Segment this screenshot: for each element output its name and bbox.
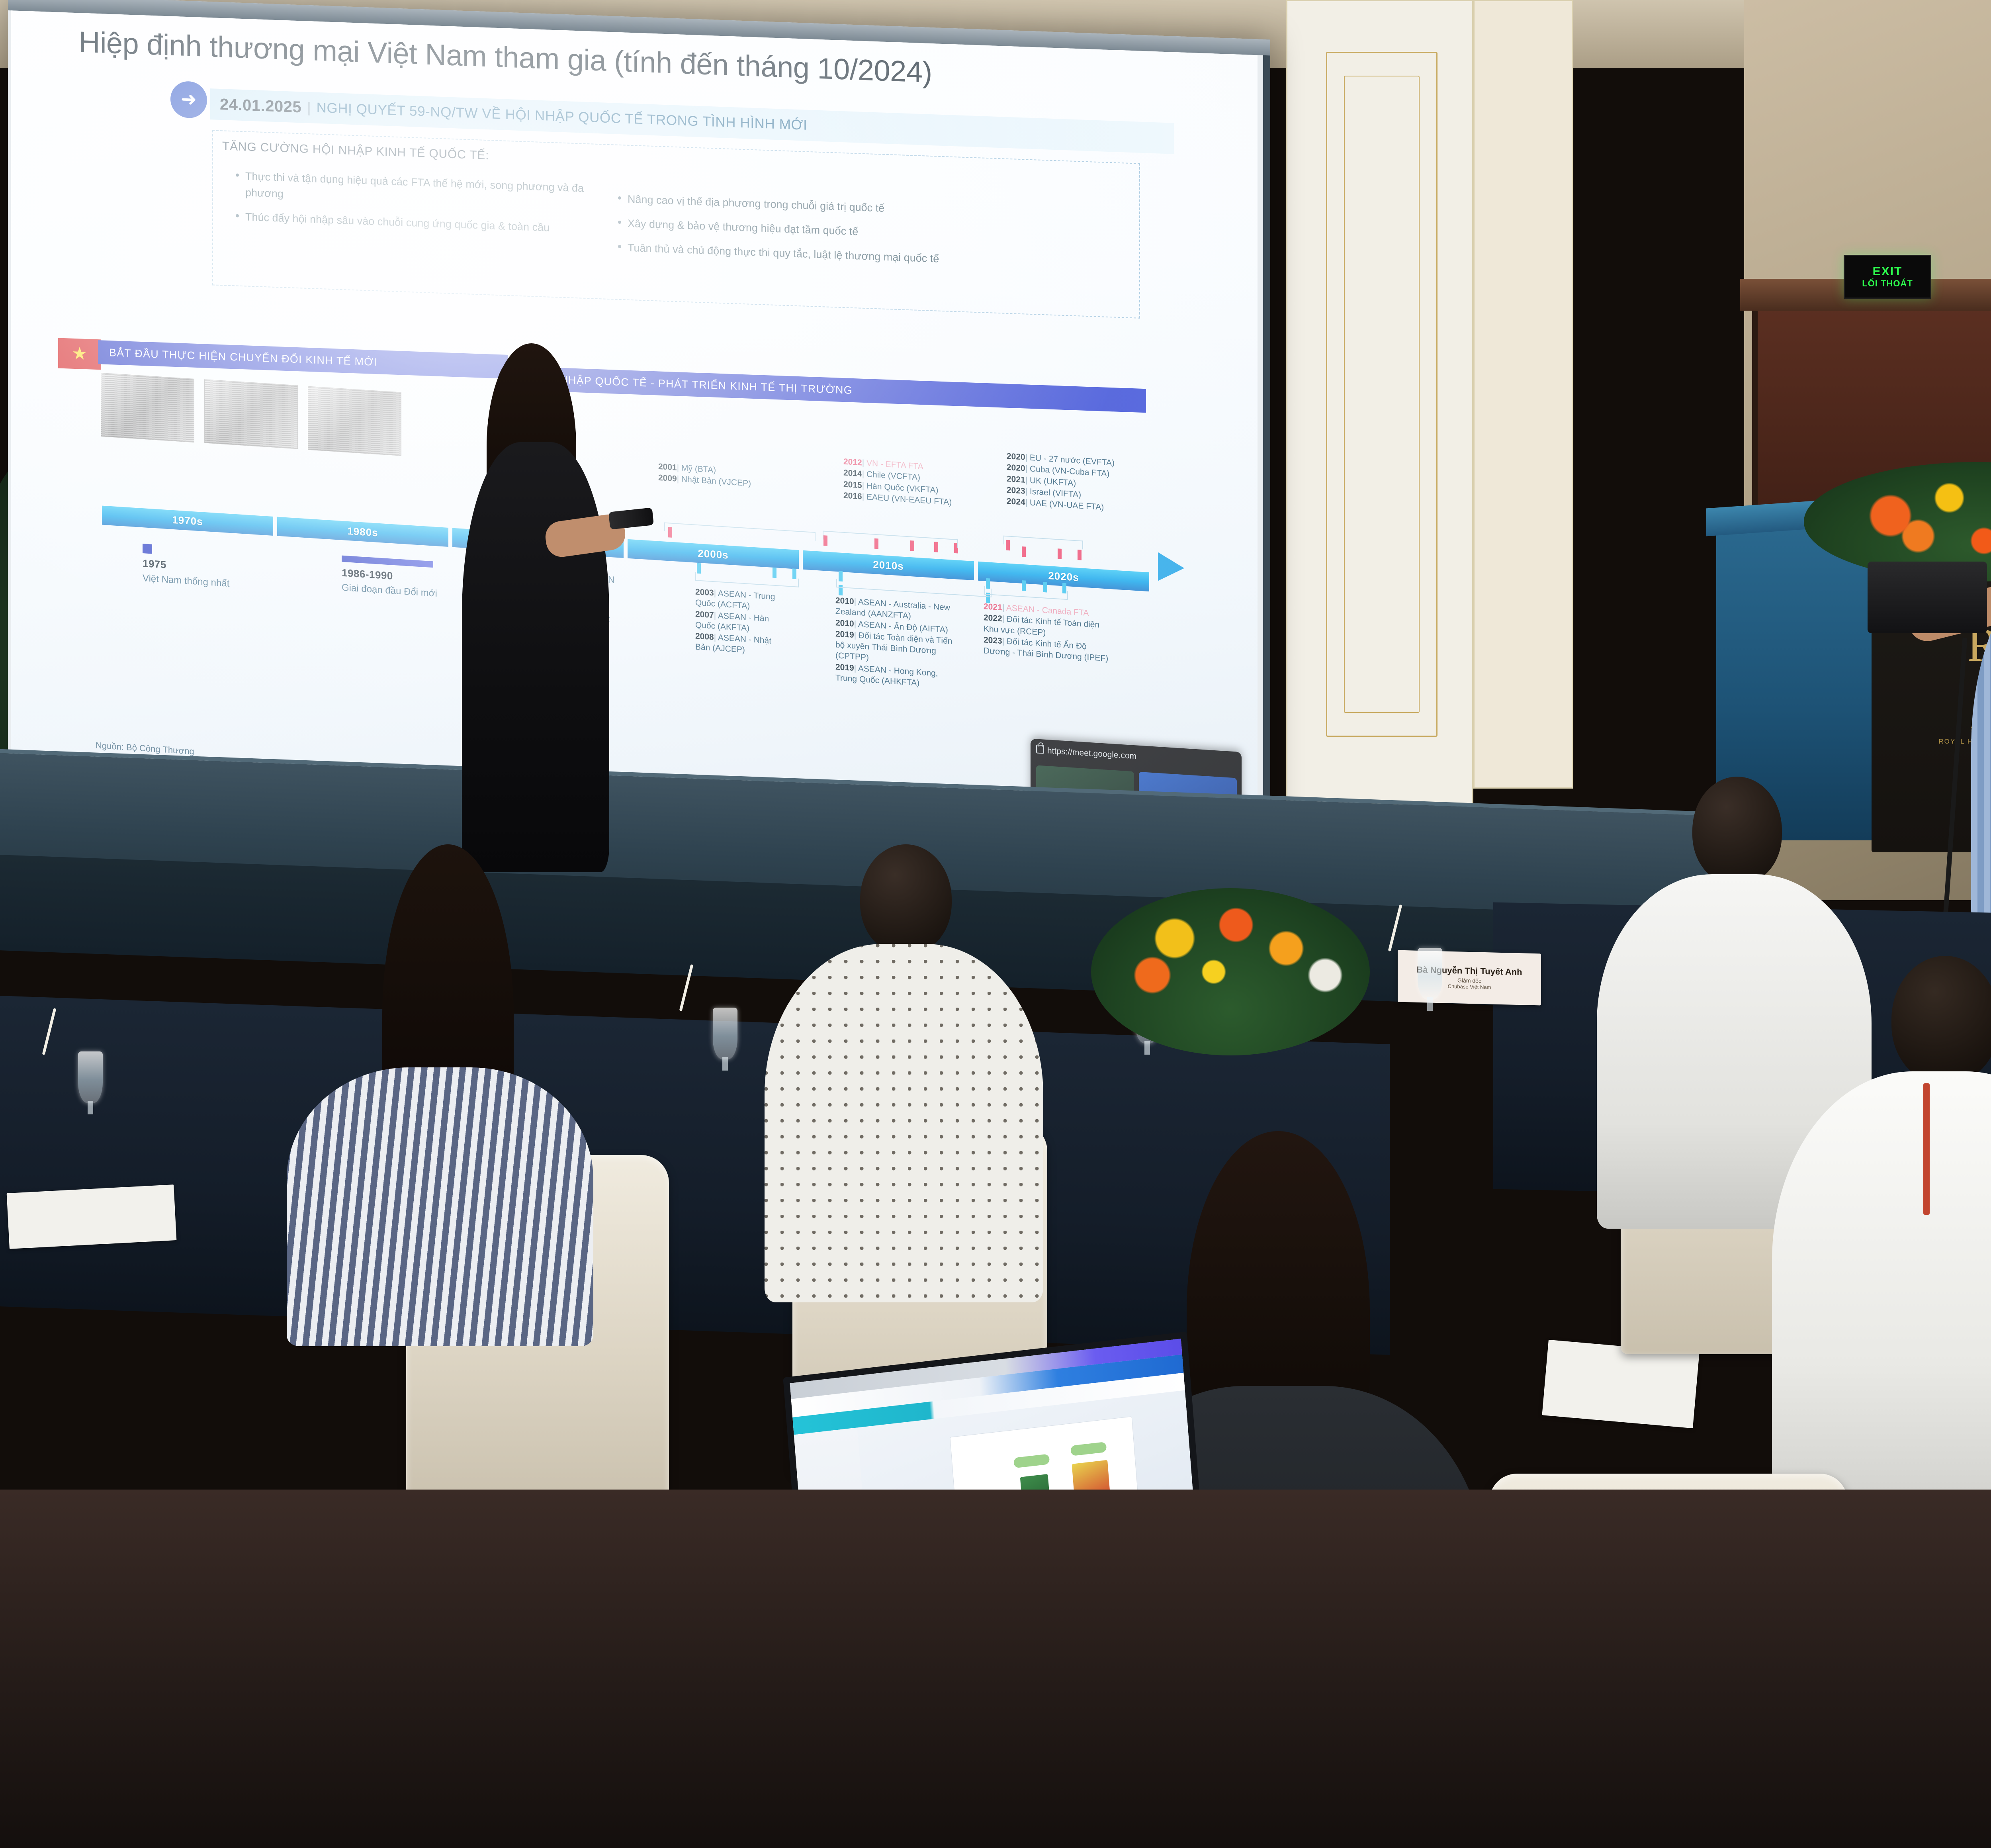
fta-year: 2015 — [843, 480, 862, 490]
fta-year: 2021 — [984, 602, 1002, 612]
fta-year: 2024 — [1007, 497, 1025, 507]
axis-decade-label: 2000s — [698, 547, 728, 561]
axis-decade: 2000s — [628, 539, 799, 569]
fta-year: 2003 — [695, 587, 714, 598]
fta-year: 2022 — [984, 613, 1002, 624]
timeline-tick-down — [792, 568, 796, 579]
document-paper — [7, 1184, 177, 1249]
timeline-bracket-down — [836, 579, 992, 597]
fta-year: 2023 — [1007, 485, 1025, 496]
exit-sign: EXIT LỐI THOÁT — [1844, 255, 1931, 299]
video-camera-1 — [1868, 562, 1987, 633]
attendee-white-shirt-center — [1764, 956, 1991, 1521]
meet-url[interactable]: https://meet.google.com — [1047, 746, 1136, 761]
fta-list-mid: 2012| VN - EFTA FTA 2014| Chile (VCFTA) … — [843, 456, 1003, 512]
axis-decade: 2010s — [803, 550, 974, 580]
presenter — [450, 350, 621, 876]
section-bar-transition: BẮT ĐẦU THỰC HIỆN CHUYỂN ĐỔI KINH TẾ MỚI — [98, 340, 508, 379]
presenter-torso — [462, 442, 609, 872]
fta-list-1990s: 2001| Mỹ (BTA) 2009| Nhật Bản (VJCEP) — [658, 461, 790, 492]
fta-name: Mỹ (BTA) — [681, 464, 716, 475]
attendee-head — [860, 844, 952, 954]
banner-text: NGHỊ QUYẾT 59-NQ/TW VỀ HỘI NHẬP QUỐC TẾ … — [317, 100, 808, 133]
attendee-torso — [287, 1067, 593, 1346]
slide-surface: Hiệp định thương mại Việt Nam tham gia (… — [11, 10, 1258, 812]
event-label: Giai đoạn đầu Đổi mới — [342, 582, 437, 599]
flower-centerpiece-table — [1091, 888, 1370, 1055]
attendee-head — [1891, 956, 1991, 1083]
timeline-event: 1975 Việt Nam thống nhất — [143, 544, 229, 589]
conference-room-scene: EXIT LỐI THOÁT Hiệp định thương mại Việt… — [0, 0, 1991, 1848]
placard-company: Chubase Việt Nam — [1448, 983, 1491, 991]
timeline-tick-up — [1078, 550, 1082, 560]
carpet-floor — [0, 1490, 1991, 1848]
timeline-bracket-down — [695, 572, 799, 587]
archive-photo-1 — [101, 373, 194, 442]
section-bar-label: BẮT ĐẦU THỰC HIỆN CHUYỂN ĐỔI KINH TẾ MỚI — [109, 346, 377, 368]
bullet-item: Thúc đẩy hội nhập sâu vào chuỗi cung ứng… — [234, 208, 600, 238]
banner-date: 24.01.2025 — [220, 96, 301, 116]
timeline-tick-up — [1022, 546, 1026, 557]
axis-decade-label: 1970s — [172, 513, 203, 528]
axis-decade-label: 1980s — [347, 525, 378, 539]
fta-year: 2008 — [695, 632, 714, 642]
axis-decade-label: 2010s — [873, 558, 904, 572]
fta-year: 2019 — [835, 662, 854, 673]
camera-operator-1 — [1943, 482, 1991, 960]
fta-year: 2010 — [835, 618, 854, 628]
fta-name: UK (UKFTA) — [1030, 476, 1076, 487]
archive-photo-2 — [204, 379, 298, 449]
placard-title: Giám đốc — [1457, 977, 1481, 984]
timeline-bracket-down — [984, 586, 1068, 600]
attendee-dotted-shirt — [757, 844, 1043, 1302]
timeline-bracket-up — [823, 531, 958, 548]
water-glass — [1418, 948, 1442, 1000]
attendee-striped-shirt — [287, 844, 589, 1322]
fta-list-2020s: 2021| ASEAN - Canada FTA 2022| Đối tác K… — [984, 601, 1111, 665]
lock-icon — [1036, 744, 1044, 754]
fta-year: 2012 — [843, 457, 862, 468]
fta-list-2000s: 2003| ASEAN - Trung Quốc (ACFTA) 2007| A… — [695, 587, 787, 659]
timeline-bracket-up — [664, 523, 816, 541]
arrow-right-icon: ➜ — [170, 81, 207, 119]
axis-decade: 1970s — [102, 506, 273, 536]
fta-list-2010s: 2010| ASEAN - Australia - New Zealand (A… — [835, 595, 955, 691]
exit-sign-line1: EXIT — [1873, 266, 1903, 278]
timeline-tick-up — [1058, 548, 1062, 559]
timeline-bracket-up — [1003, 536, 1083, 550]
wall-panel-ornament-inner — [1344, 76, 1420, 713]
archive-photo-3 — [308, 386, 401, 456]
timeline-event: 1986-1990 Giai đoạn đầu Đổi mới — [342, 556, 437, 599]
fta-year: 2009 — [658, 473, 677, 484]
attendee-torso — [765, 944, 1043, 1302]
axis-decade-label: 2020s — [1048, 570, 1079, 584]
water-glass — [713, 1008, 737, 1059]
fta-year: 2014 — [843, 468, 862, 479]
event-year: 1986-1990 — [342, 567, 437, 585]
lanyard — [1923, 1083, 1930, 1215]
fta-year: 2020 — [1007, 463, 1025, 473]
fta-year: 2023 — [984, 635, 1002, 646]
wall-panel-right — [1473, 0, 1573, 789]
fta-year: 2001 — [658, 462, 677, 472]
timeline-arrowhead — [1158, 552, 1184, 582]
axis-decade: 1980s — [277, 517, 448, 547]
fta-year: 2021 — [1007, 474, 1025, 485]
bullet-column-left: Thực thi và tận dụng hiệu quả các FTA th… — [234, 168, 600, 246]
fta-year: 2007 — [695, 609, 714, 620]
vietnam-flag-icon: ★ — [58, 338, 101, 370]
event-year: 1975 — [143, 557, 229, 575]
banner-separator: | — [307, 99, 311, 116]
event-label: Việt Nam thống nhất — [143, 573, 229, 589]
attendee-head — [1692, 777, 1782, 884]
timeline-tick-down — [773, 568, 776, 578]
attendee-torso — [1772, 1071, 1991, 1521]
fta-year: 2016 — [843, 491, 862, 501]
fta-list-right: 2020| EU - 27 nước (EVFTA) 2020| Cuba (V… — [1007, 451, 1174, 518]
fta-year: 2020 — [1007, 452, 1025, 462]
water-glass — [78, 1051, 103, 1103]
event-marker — [143, 544, 152, 554]
fta-year: 2010 — [835, 596, 854, 606]
projection-screen: Hiệp định thương mại Việt Nam tham gia (… — [8, 0, 1270, 848]
event-marker — [342, 556, 433, 568]
exit-sign-line2: LỐI THOÁT — [1862, 279, 1913, 288]
fta-year: 2019 — [835, 629, 854, 640]
